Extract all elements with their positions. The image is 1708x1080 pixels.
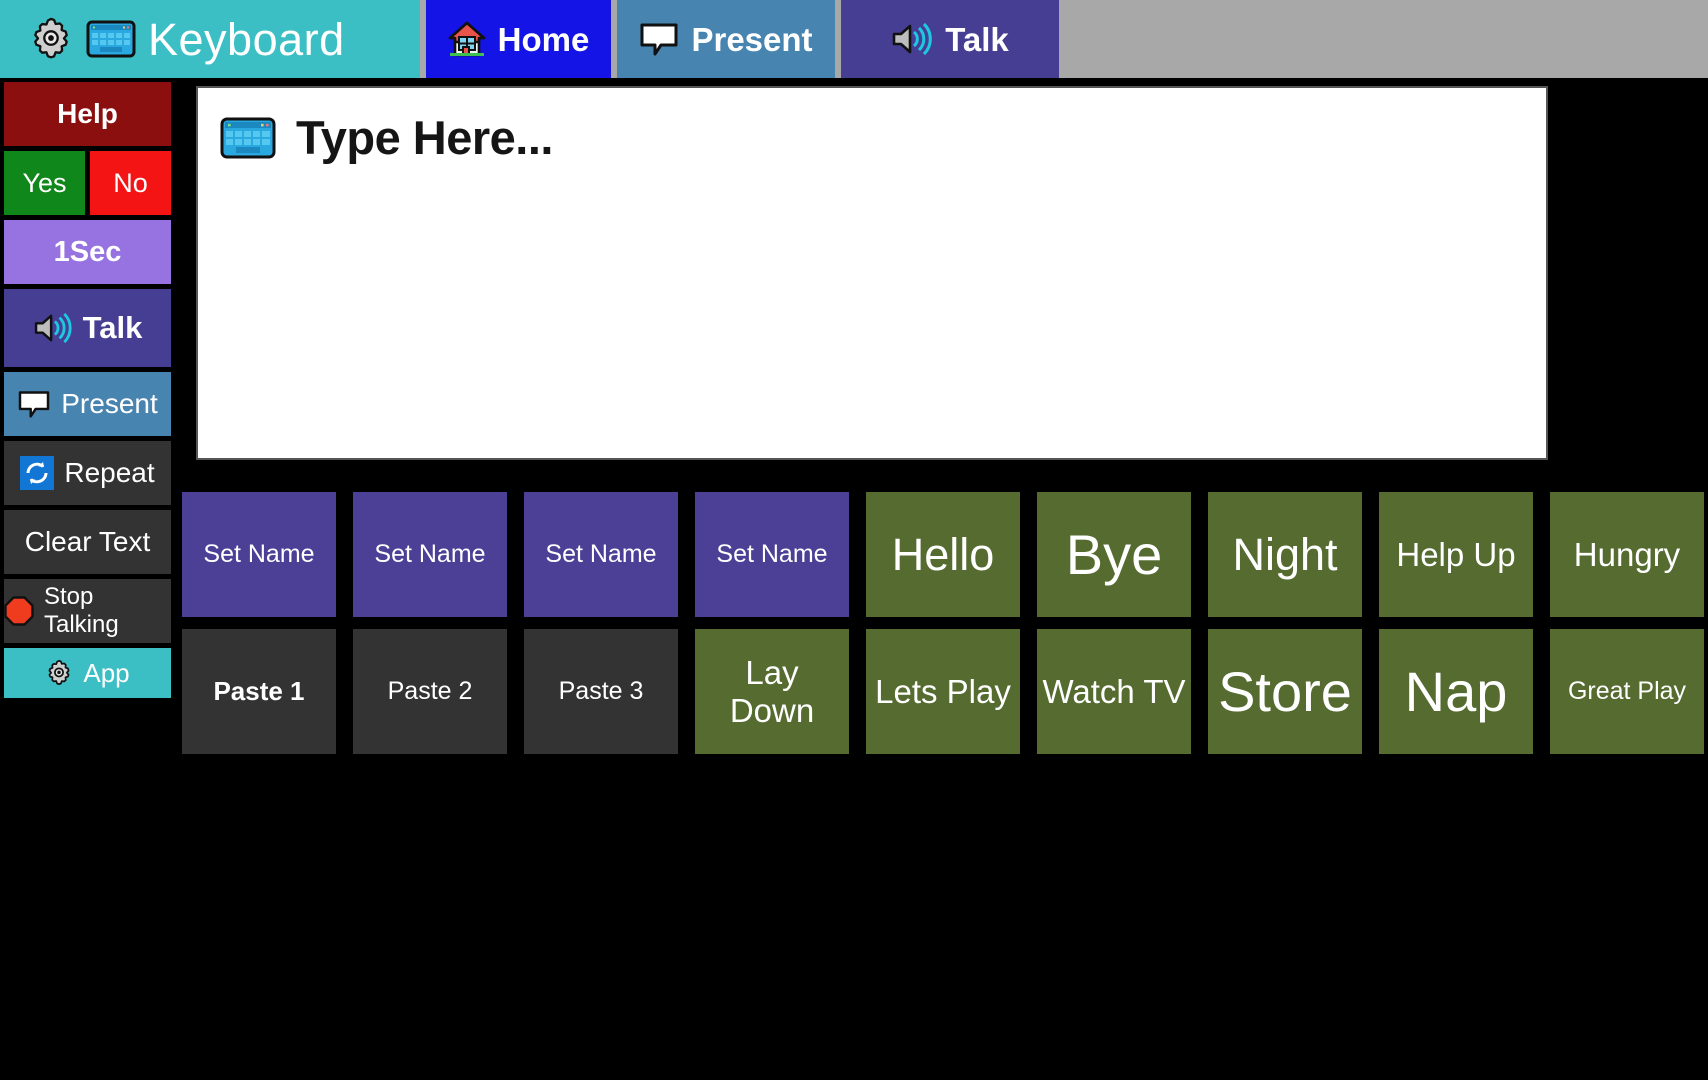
keyboard-icon [86, 20, 136, 58]
house-icon [448, 20, 486, 58]
grid-button[interactable]: Night [1208, 492, 1362, 617]
grid-button-label: Lets Play [875, 673, 1011, 711]
grid-button-label: Bye [1066, 522, 1163, 587]
sidebar-item-clear-text-label: Clear Text [25, 526, 151, 558]
grid-button-label: Set Name [545, 540, 656, 569]
keyboard-icon [220, 117, 276, 159]
grid-button-label: Set Name [716, 540, 827, 569]
sidebar-item-stop-talking[interactable]: Stop Talking [4, 579, 171, 643]
grid-button[interactable]: Lay Down [695, 629, 849, 754]
grid-button[interactable]: Hello [866, 492, 1020, 617]
sidebar-item-help[interactable]: Help [4, 82, 171, 146]
speaker-icon [33, 312, 73, 344]
sidebar-item-present[interactable]: Present [4, 372, 171, 436]
grid-button-label: Paste 3 [559, 677, 644, 706]
grid-button[interactable]: Hungry [1550, 492, 1704, 617]
grid-button-label: Help Up [1396, 536, 1515, 574]
sidebar-yes-no-row: Yes No [4, 151, 171, 215]
grid-button[interactable]: Set Name [524, 492, 678, 617]
grid-button[interactable]: Paste 3 [524, 629, 678, 754]
grid-button[interactable]: Set Name [182, 492, 336, 617]
phrase-button-grid: Set NameSet NameSet NameSet NameHelloBye… [182, 492, 1708, 754]
sidebar-item-talk[interactable]: Talk [4, 289, 171, 367]
grid-button-label: Night [1232, 529, 1337, 581]
tab-talk[interactable]: Talk [841, 0, 1059, 78]
grid-button[interactable]: Store [1208, 629, 1362, 754]
tab-home[interactable]: Home [426, 0, 611, 78]
grid-button[interactable]: Lets Play [866, 629, 1020, 754]
grid-button-label: Paste 2 [388, 677, 473, 706]
sidebar: Help Yes No 1Sec Talk Present [4, 82, 171, 703]
text-entry-panel[interactable]: Type Here... [196, 86, 1548, 460]
grid-button[interactable]: Set Name [695, 492, 849, 617]
tab-present-label: Present [691, 23, 812, 56]
sidebar-item-present-label: Present [61, 388, 158, 420]
grid-button-label: Hello [892, 529, 995, 581]
grid-button[interactable]: Nap [1379, 629, 1533, 754]
top-tab-bar: Keyboard Home Present Talk [0, 0, 1708, 78]
grid-button-label: Nap [1405, 659, 1508, 724]
sidebar-item-stop-talking-label: Stop Talking [44, 583, 171, 639]
sidebar-item-1sec-label: 1Sec [54, 236, 122, 269]
sidebar-item-yes-label: Yes [22, 168, 66, 199]
sidebar-item-help-label: Help [57, 98, 118, 130]
sidebar-item-talk-label: Talk [83, 310, 143, 346]
speech-bubble-icon [17, 390, 51, 418]
grid-button[interactable]: Great Play [1550, 629, 1704, 754]
stop-sign-icon [4, 596, 34, 626]
tab-keyboard[interactable]: Keyboard [0, 0, 420, 78]
sidebar-item-1sec[interactable]: 1Sec [4, 220, 171, 284]
gear-icon [45, 659, 73, 687]
sidebar-item-clear-text[interactable]: Clear Text [4, 510, 171, 574]
grid-button[interactable]: Help Up [1379, 492, 1533, 617]
sidebar-item-app-label: App [83, 658, 129, 689]
gear-icon [28, 16, 74, 62]
sidebar-item-repeat[interactable]: Repeat [4, 441, 171, 505]
grid-button[interactable]: Watch TV [1037, 629, 1191, 754]
grid-button-label: Store [1218, 659, 1352, 724]
grid-button[interactable]: Paste 2 [353, 629, 507, 754]
grid-button-label: Hungry [1574, 536, 1680, 574]
sidebar-item-yes[interactable]: Yes [4, 151, 85, 215]
grid-button-label: Watch TV [1042, 673, 1185, 711]
tab-present[interactable]: Present [617, 0, 835, 78]
sidebar-item-repeat-label: Repeat [64, 457, 154, 489]
grid-button-label: Paste 1 [213, 676, 304, 707]
tab-keyboard-label: Keyboard [148, 17, 345, 62]
sidebar-item-app[interactable]: App [4, 648, 171, 698]
grid-button-label: Lay Down [699, 654, 845, 730]
grid-button-label: Great Play [1568, 677, 1686, 706]
speaker-icon [891, 22, 933, 56]
grid-button[interactable]: Set Name [353, 492, 507, 617]
repeat-icon [20, 456, 54, 490]
grid-button[interactable]: Bye [1037, 492, 1191, 617]
sidebar-item-no-label: No [113, 168, 148, 199]
speech-bubble-icon [639, 22, 679, 56]
grid-button-label: Set Name [374, 540, 485, 569]
grid-button-label: Set Name [203, 540, 314, 569]
text-entry-placeholder: Type Here... [296, 114, 553, 161]
tab-talk-label: Talk [945, 23, 1009, 56]
sidebar-item-no[interactable]: No [90, 151, 171, 215]
text-entry-placeholder-row: Type Here... [198, 88, 1546, 161]
tab-home-label: Home [498, 23, 590, 56]
grid-button[interactable]: Paste 1 [182, 629, 336, 754]
